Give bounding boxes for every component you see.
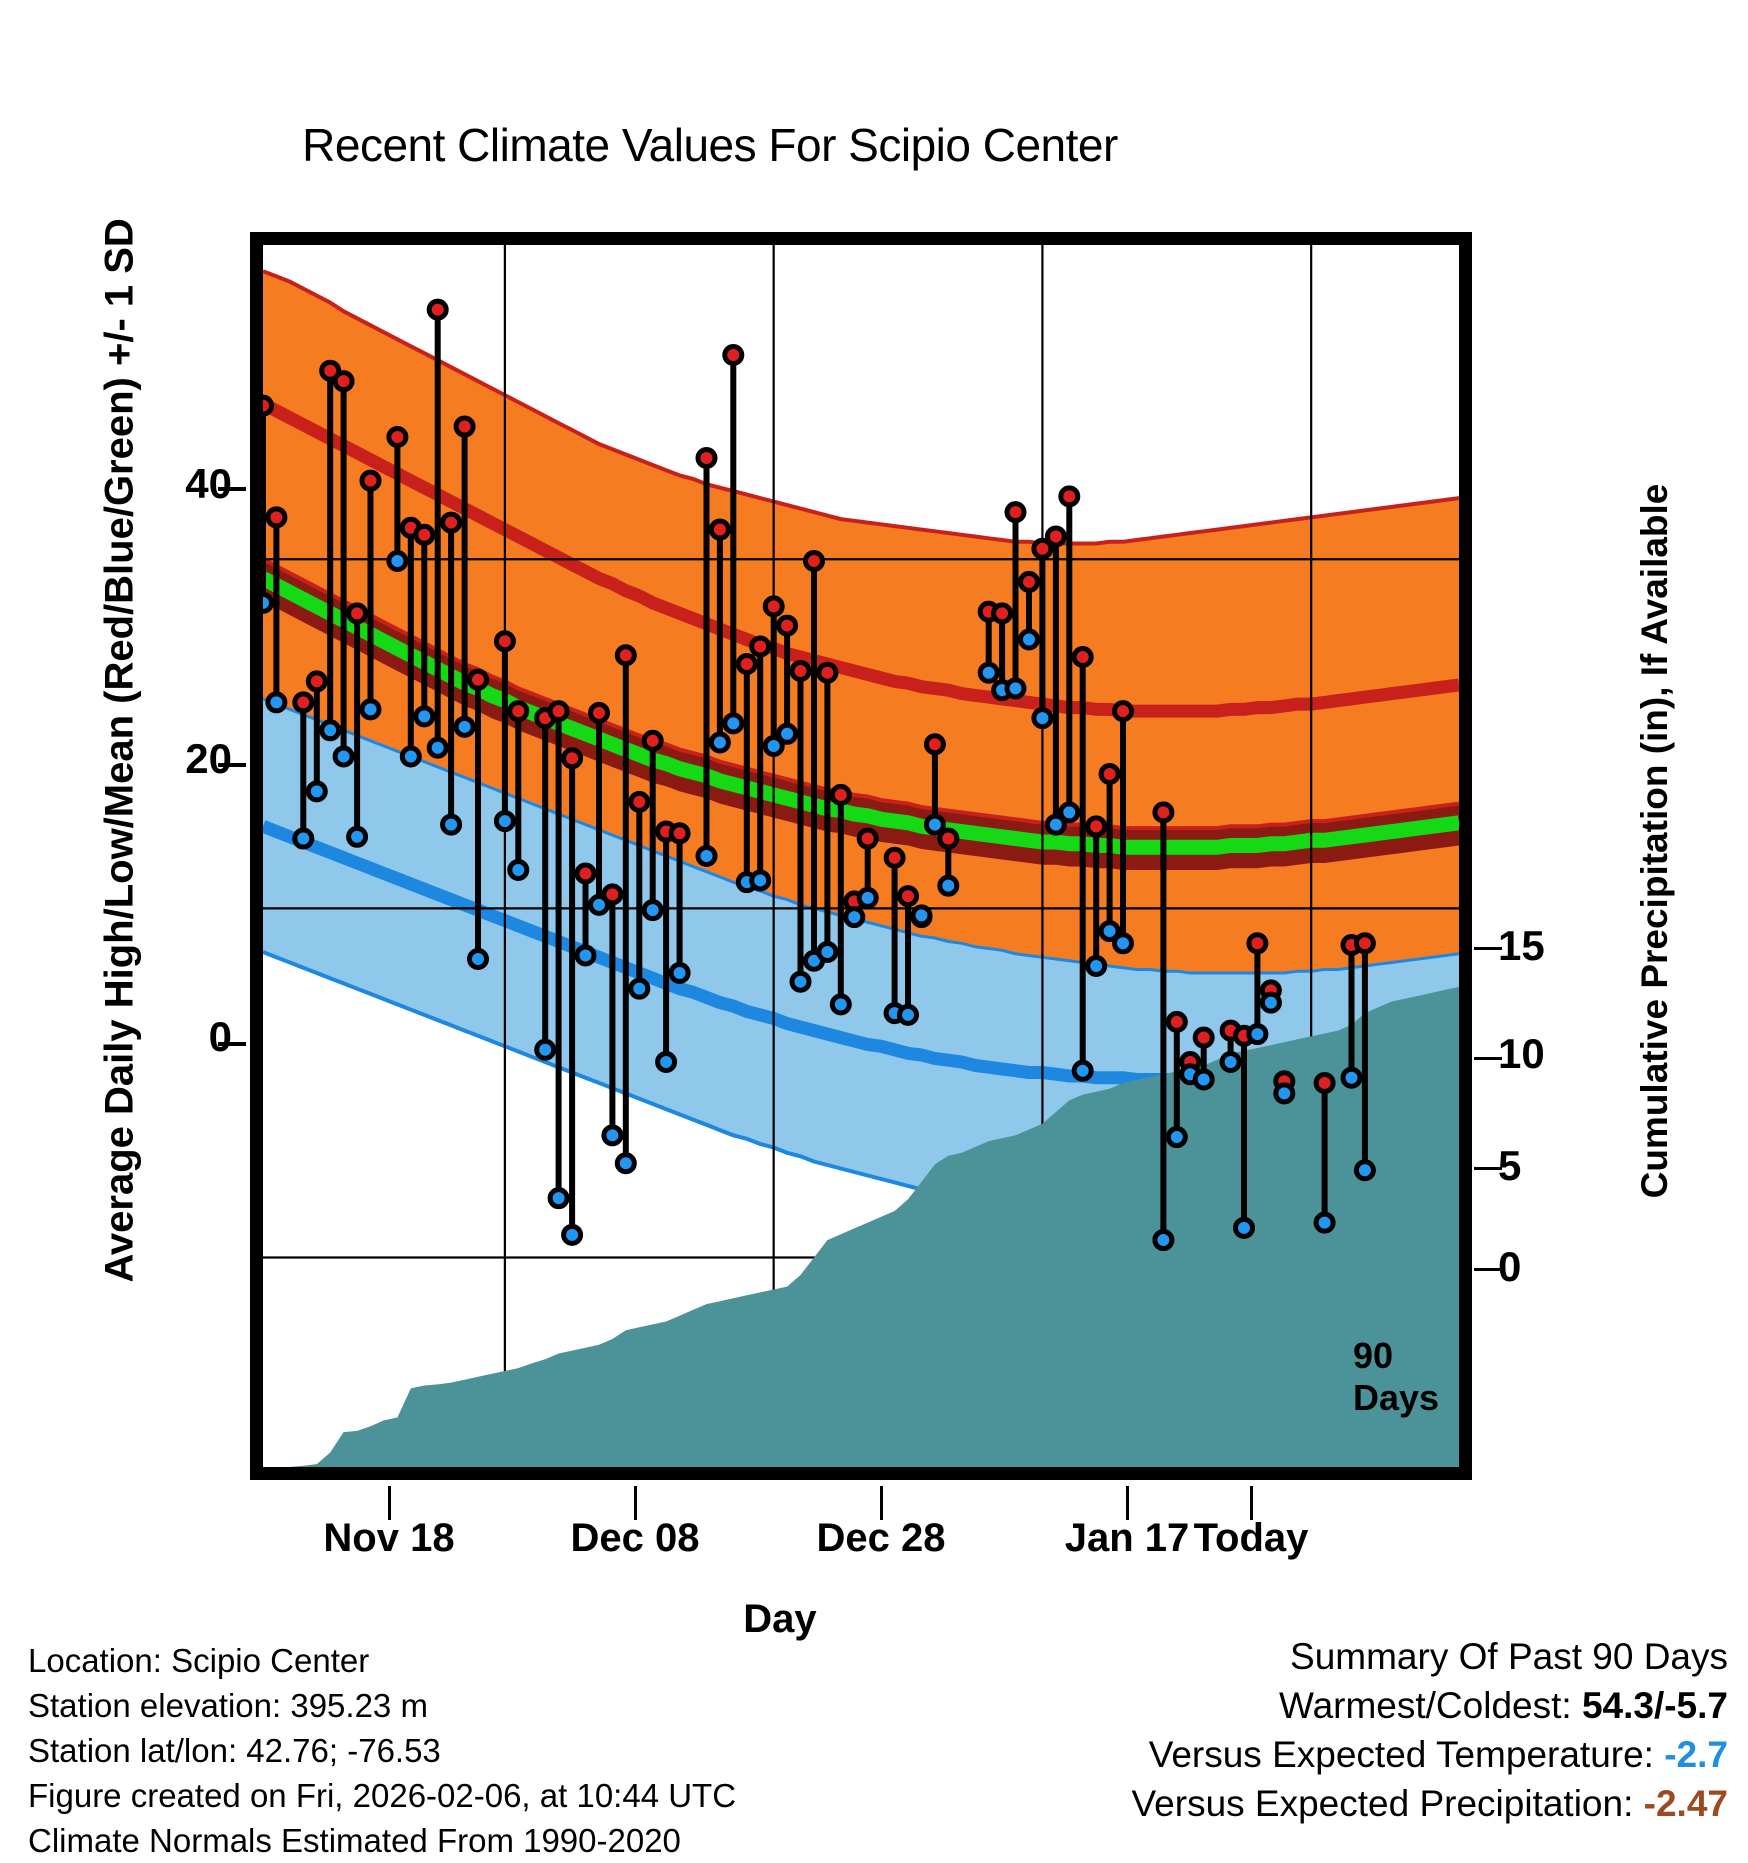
observed-low-marker — [456, 718, 473, 735]
observed-high-marker — [926, 736, 943, 753]
summary-warmest-coldest: Warmest/Coldest: 54.3/-5.7 — [1132, 1681, 1728, 1730]
observed-high-marker — [470, 671, 487, 688]
observed-high-marker — [550, 703, 567, 720]
observed-low-marker — [1021, 631, 1038, 648]
meta-latlon: Station lat/lon: 42.76; -76.53 — [28, 1728, 736, 1773]
observed-low-marker — [470, 950, 487, 967]
observed-high-marker — [698, 449, 715, 466]
observed-low-marker — [1195, 1071, 1212, 1088]
observed-high-marker — [832, 786, 849, 803]
observed-high-marker — [577, 865, 594, 882]
y-tick-mark-r0 — [1474, 1268, 1502, 1271]
x-tick-mark-nov18 — [388, 1486, 391, 1520]
observed-high-marker — [738, 655, 755, 672]
ninety-days-annotation: 90 Days — [1353, 1335, 1439, 1419]
observed-low-marker — [617, 1155, 634, 1172]
observed-low-marker — [550, 1190, 567, 1207]
observed-high-marker — [1115, 703, 1132, 720]
observed-high-marker — [429, 301, 446, 318]
observed-low-marker — [604, 1127, 621, 1144]
observed-high-marker — [591, 704, 608, 721]
observed-low-marker — [779, 725, 796, 742]
meta-elevation: Station elevation: 395.23 m — [28, 1683, 736, 1728]
observed-high-marker — [617, 647, 634, 664]
observed-high-marker — [335, 373, 352, 390]
precip-anomaly-value: -2.47 — [1644, 1783, 1728, 1824]
y-tick-mark-r15 — [1474, 947, 1502, 950]
observed-low-marker — [631, 980, 648, 997]
observed-low-marker — [1236, 1219, 1253, 1236]
observed-low-marker — [1074, 1062, 1091, 1079]
y-tick-right-10: 10 — [1498, 1030, 1618, 1078]
observed-low-marker — [402, 748, 419, 765]
x-tick-label-today: Today — [1121, 1516, 1381, 1561]
climate-plot-svg — [263, 245, 1459, 1467]
observed-low-marker — [725, 715, 742, 732]
observed-high-marker — [644, 732, 661, 749]
plot-canvas — [263, 245, 1459, 1467]
x-axis-label: Day — [600, 1597, 960, 1642]
observed-high-marker — [792, 662, 809, 679]
observed-high-marker — [564, 750, 581, 767]
observed-high-marker — [510, 703, 527, 720]
y-axis-right-label: Cumulative Precipitation (in), If Availa… — [1634, 341, 1676, 1341]
observed-low-marker — [496, 813, 513, 830]
observed-low-marker — [1316, 1214, 1333, 1231]
observed-low-marker — [940, 877, 957, 894]
summary-panel: Summary Of Past 90 Days Warmest/Coldest:… — [1132, 1632, 1728, 1828]
observed-high-marker — [819, 664, 836, 681]
observed-low-marker — [1249, 1026, 1266, 1043]
observed-high-marker — [496, 633, 513, 650]
temp-anomaly-label: Versus Expected Temperature: — [1149, 1734, 1654, 1775]
observed-high-marker — [1061, 488, 1078, 505]
x-tick-mark-jan17 — [1126, 1486, 1129, 1520]
observed-low-marker — [846, 909, 863, 926]
observed-low-marker — [1356, 1162, 1373, 1179]
observed-high-marker — [1316, 1074, 1333, 1091]
observed-low-marker — [510, 861, 527, 878]
page-title: Recent Climate Values For Scipio Center — [0, 118, 1420, 172]
observed-high-marker — [295, 694, 312, 711]
observed-high-marker — [1007, 504, 1024, 521]
summary-temp-anomaly: Versus Expected Temperature: -2.7 — [1132, 1730, 1728, 1779]
observed-high-marker — [631, 793, 648, 810]
observed-high-marker — [1088, 818, 1105, 835]
observed-high-marker — [604, 886, 621, 903]
observed-high-marker — [1047, 528, 1064, 545]
observed-low-marker — [1168, 1129, 1185, 1146]
y-tick-mark-r10 — [1474, 1057, 1502, 1060]
y-tick-mark-r5 — [1474, 1167, 1502, 1170]
observed-high-marker — [1021, 573, 1038, 590]
x-tick-label-dec28: Dec 28 — [751, 1516, 1011, 1561]
observed-low-marker — [362, 701, 379, 718]
annotation-line-1: 90 — [1353, 1335, 1439, 1377]
observed-high-marker — [456, 418, 473, 435]
station-metadata: Location: Scipio Center Station elevatio… — [28, 1638, 736, 1863]
y-tick-right-0: 0 — [1498, 1243, 1618, 1291]
observed-low-marker — [832, 996, 849, 1013]
observed-high-marker — [1249, 935, 1266, 952]
meta-created: Figure created on Fri, 2026-02-06, at 10… — [28, 1773, 736, 1818]
observed-high-marker — [416, 526, 433, 543]
observed-low-marker — [900, 1006, 917, 1023]
observed-low-marker — [335, 748, 352, 765]
observed-low-marker — [295, 830, 312, 847]
observed-high-marker — [725, 346, 742, 363]
y-tick-left-0: 0 — [112, 1013, 232, 1061]
climate-figure: Recent Climate Values For Scipio Center … — [0, 0, 1748, 1828]
y-tick-mark-40 — [218, 487, 246, 491]
temp-anomaly-value: -2.7 — [1664, 1734, 1728, 1775]
observed-high-marker — [711, 521, 728, 538]
observed-low-marker — [308, 783, 325, 800]
observed-high-marker — [779, 617, 796, 634]
observed-high-marker — [268, 509, 285, 526]
observed-high-marker — [1195, 1029, 1212, 1046]
y-tick-mark-0 — [218, 1042, 246, 1046]
observed-low-marker — [752, 872, 769, 889]
observed-high-marker — [765, 598, 782, 615]
observed-low-marker — [443, 816, 460, 833]
y-tick-left-40: 40 — [112, 460, 232, 508]
annotation-line-2: Days — [1353, 1377, 1439, 1419]
observed-low-marker — [1088, 957, 1105, 974]
observed-low-marker — [263, 594, 272, 611]
observed-high-marker — [940, 830, 957, 847]
observed-high-marker — [886, 849, 903, 866]
x-tick-mark-today — [1250, 1486, 1253, 1520]
observed-low-marker — [859, 889, 876, 906]
observed-low-marker — [1262, 994, 1279, 1011]
observed-high-marker — [752, 638, 769, 655]
observed-high-marker — [1356, 935, 1373, 952]
x-tick-mark-dec28 — [880, 1486, 883, 1520]
observed-low-marker — [913, 907, 930, 924]
observed-low-marker — [349, 828, 366, 845]
summary-heading: Summary Of Past 90 Days — [1132, 1632, 1728, 1681]
observed-low-marker — [268, 694, 285, 711]
meta-location: Location: Scipio Center — [28, 1638, 736, 1683]
observed-high-marker — [1168, 1013, 1185, 1030]
observed-high-marker — [308, 673, 325, 690]
warmest-coldest-label: Warmest/Coldest: — [1279, 1685, 1572, 1726]
precip-anomaly-label: Versus Expected Precipitation: — [1132, 1783, 1634, 1824]
observed-low-marker — [1007, 680, 1024, 697]
observed-high-marker — [1074, 648, 1091, 665]
observed-low-marker — [416, 708, 433, 725]
observed-low-marker — [1276, 1085, 1293, 1102]
observed-high-marker — [1155, 804, 1172, 821]
observed-low-marker — [698, 848, 715, 865]
observed-low-marker — [1034, 710, 1051, 727]
observed-high-marker — [900, 888, 917, 905]
observed-low-marker — [658, 1053, 675, 1070]
observed-low-marker — [577, 947, 594, 964]
observed-low-marker — [1222, 1053, 1239, 1070]
y-tick-left-20: 20 — [112, 735, 232, 783]
summary-precip-anomaly: Versus Expected Precipitation: -2.47 — [1132, 1779, 1728, 1828]
observed-high-marker — [362, 472, 379, 489]
x-tick-mark-dec08 — [634, 1486, 637, 1520]
observed-low-marker — [537, 1041, 554, 1058]
observed-low-marker — [819, 944, 836, 961]
observed-low-marker — [1115, 935, 1132, 952]
warmest-coldest-value: 54.3/-5.7 — [1582, 1685, 1728, 1726]
observed-high-marker — [349, 605, 366, 622]
x-tick-label-dec08: Dec 08 — [505, 1516, 765, 1561]
observed-low-marker — [429, 739, 446, 756]
observed-low-marker — [564, 1226, 581, 1243]
observed-high-marker — [806, 552, 823, 569]
meta-normals: Climate Normals Estimated From 1990-2020 — [28, 1818, 736, 1863]
x-tick-label-nov18: Nov 18 — [259, 1516, 519, 1561]
y-tick-right-15: 15 — [1498, 922, 1618, 970]
observed-low-marker — [644, 902, 661, 919]
observed-high-marker — [443, 514, 460, 531]
observed-low-marker — [671, 964, 688, 981]
observed-high-marker — [994, 605, 1011, 622]
observed-low-marker — [1343, 1069, 1360, 1086]
observed-high-marker — [671, 825, 688, 842]
observed-high-marker — [1101, 765, 1118, 782]
y-tick-mark-20 — [218, 763, 246, 767]
observed-low-marker — [1061, 804, 1078, 821]
observed-low-marker — [792, 973, 809, 990]
observed-low-marker — [1155, 1232, 1172, 1249]
observed-low-marker — [980, 664, 997, 681]
y-tick-right-5: 5 — [1498, 1142, 1618, 1190]
observed-high-marker — [859, 830, 876, 847]
observed-high-marker — [263, 397, 272, 414]
observed-low-marker — [322, 722, 339, 739]
observed-high-marker — [389, 429, 406, 446]
plot-area: 90 Days — [250, 232, 1472, 1480]
observed-low-marker — [389, 552, 406, 569]
observed-low-marker — [711, 734, 728, 751]
